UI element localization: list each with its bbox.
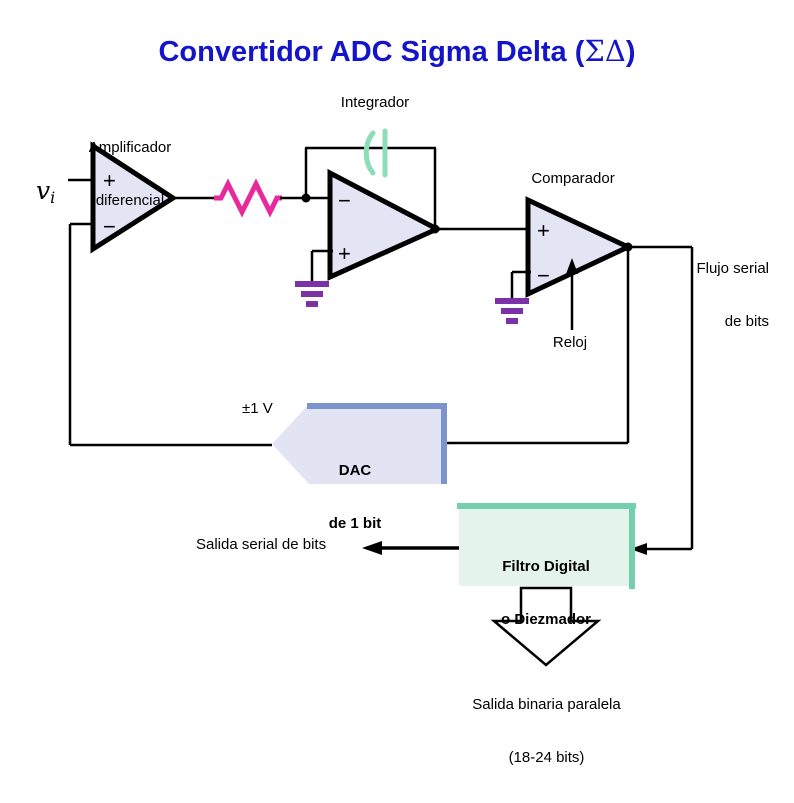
serial-stream-caption-line2: de bits xyxy=(663,313,769,331)
serial-stream-caption: Flujo serial de bits xyxy=(663,225,769,367)
ground-bar-2 xyxy=(501,308,523,314)
ground-bar-1 xyxy=(495,298,529,304)
resistor-symbol xyxy=(214,184,282,212)
comparator-plus-sign: + xyxy=(537,218,550,243)
parallel-output-caption-line2: (18-24 bits) xyxy=(424,749,669,767)
input-signal-label: vi xyxy=(36,176,55,207)
capacitor-curved-plate xyxy=(366,133,373,173)
ground-symbol-integrator xyxy=(295,281,329,307)
diff-amp-caption-line2: diferencial xyxy=(80,192,180,210)
serial-stream-caption-line1: Flujo serial xyxy=(663,260,769,278)
capacitor-symbol xyxy=(366,131,385,175)
dac-voltage-label: ±1 V xyxy=(242,400,273,418)
parallel-output-caption-line1: Salida binaria paralela xyxy=(424,696,669,714)
integrator-minus-sign: − xyxy=(338,188,351,213)
filter-caption-line2: o Diezmador xyxy=(466,611,626,629)
input-signal-subscript: i xyxy=(50,188,55,207)
comparator-caption: Comparador xyxy=(518,170,628,188)
diagram-canvas: Convertidor ADC Sigma Delta (ΣΔ) xyxy=(0,0,794,746)
comparator-minus-sign: − xyxy=(537,263,550,288)
filter-caption: Filtro Digital o Diezmador xyxy=(466,523,626,665)
ground-symbol-comparator xyxy=(495,298,529,324)
ground-bar-2 xyxy=(301,291,323,297)
dac-caption-line2: de 1 bit xyxy=(300,515,410,533)
diff-amp-caption: Amplificador diferencial xyxy=(80,104,180,246)
clock-caption: Reloj xyxy=(540,334,600,352)
integrator-caption: Integrador xyxy=(325,94,425,112)
serial-output-caption: Salida serial de bits xyxy=(196,536,326,554)
diff-amp-caption-line1: Amplificador xyxy=(80,139,180,157)
ground-bar-3 xyxy=(506,318,518,324)
parallel-output-caption: Salida binaria paralela (18-24 bits) xyxy=(424,661,669,803)
ground-bar-3 xyxy=(306,301,318,307)
filter-caption-line1: Filtro Digital xyxy=(466,558,626,576)
ground-bar-1 xyxy=(295,281,329,287)
junction-dot-integrator-output xyxy=(431,225,440,234)
dac-caption-line1: DAC xyxy=(300,462,410,480)
input-signal-v: v xyxy=(36,176,50,205)
integrator-plus-sign: + xyxy=(338,241,351,266)
